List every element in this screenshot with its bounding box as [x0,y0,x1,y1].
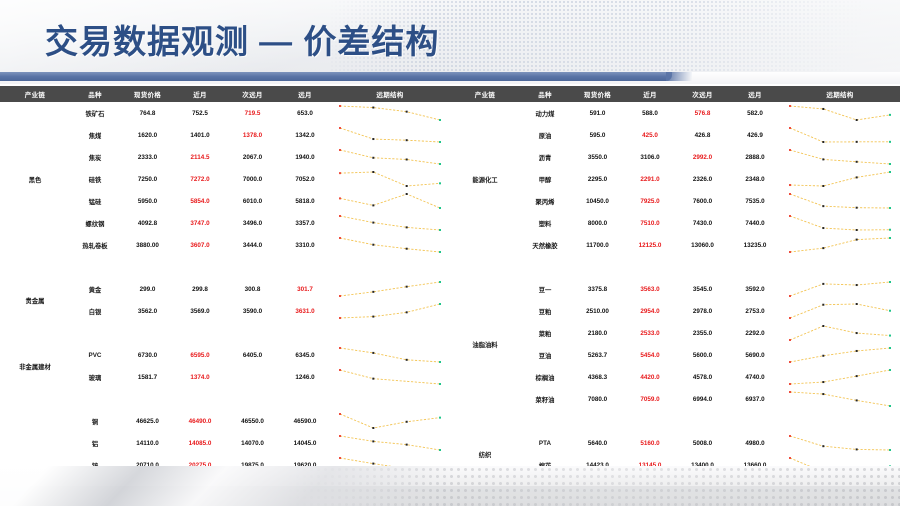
term-structure-sparkline [780,102,900,124]
near-price-cell: 752.5 [175,102,225,124]
spot-price-cell: 1581.7 [120,366,175,388]
symbol-cell[interactable]: 铜 [70,410,120,432]
symbol-cell[interactable]: 热轧卷板 [70,234,120,256]
term-structure-sparkline [330,190,450,212]
near-price-cell: 7059.0 [625,388,675,410]
far-price-cell: 5690.0 [730,344,780,366]
term-structure-sparkline [780,168,900,190]
symbol-cell[interactable]: 黄金 [70,278,120,300]
group-separator-cell [0,256,450,278]
far-price-cell: 1940.0 [280,146,330,168]
far-price-cell: 301.7 [280,278,330,300]
near-price-cell: 299.8 [175,278,225,300]
symbol-cell[interactable]: 动力煤 [520,102,570,124]
symbol-cell[interactable]: 聚丙烯 [520,190,570,212]
term-structure-sparkline [330,344,450,366]
footer-swoosh [0,466,514,506]
near-price-cell: 5160.0 [625,432,675,454]
term-structure-sparkline [780,146,900,168]
right-table-wrap: 产业链品种现货价格近月次远月远月远期结构 能源化工动力煤591.0588.057… [450,86,900,466]
column-header-1: 品种 [520,86,570,102]
term-structure-sparkline [780,190,900,212]
mid-price-cell: 3496.0 [225,212,280,234]
mid-price-cell: 2067.0 [225,146,280,168]
symbol-cell[interactable]: 玻璃 [70,366,120,388]
spot-price-cell: 46625.0 [120,410,175,432]
near-price-cell: 3607.0 [175,234,225,256]
far-price-cell: 6937.0 [730,388,780,410]
far-price-cell: 582.0 [730,102,780,124]
near-price-cell: 12125.0 [625,234,675,256]
far-price-cell: 1342.0 [280,124,330,146]
spot-price-cell: 4368.3 [570,366,625,388]
symbol-cell[interactable]: 甲醇 [520,168,570,190]
far-price-cell: 4980.0 [730,432,780,454]
spot-price-cell: 2180.0 [570,322,625,344]
far-price-cell: 7535.0 [730,190,780,212]
header-row: 产业链品种现货价格近月次远月远月远期结构 [0,86,450,102]
column-header-2: 现货价格 [120,86,175,102]
symbol-cell[interactable]: 焦煤 [70,124,120,146]
near-price-cell: 2291.0 [625,168,675,190]
table-row[interactable]: 非金属建材PVC6730.06595.06405.06345.0 [0,344,450,366]
spot-price-cell: 3880.00 [120,234,175,256]
term-structure-sparkline [330,168,450,190]
left-table-wrap: 产业链品种现货价格近月次远月远月远期结构 黑色铁矿石764.8752.5719.… [0,86,450,466]
mid-price-cell: 6994.0 [675,388,730,410]
term-structure-sparkline [330,124,450,146]
mid-price-cell: 13060.0 [675,234,730,256]
spot-price-cell: 5263.7 [570,344,625,366]
term-structure-sparkline [330,146,450,168]
mid-price-cell: 2978.0 [675,300,730,322]
spot-price-cell: 8000.0 [570,212,625,234]
term-structure-sparkline [780,388,900,410]
near-price-cell: 5854.0 [175,190,225,212]
group-separator [0,256,450,278]
category-cell: 黑色 [0,102,70,256]
column-header-0: 产业链 [0,86,70,102]
symbol-cell[interactable]: 菜粕 [520,322,570,344]
right-data-table: 产业链品种现货价格近月次远月远月远期结构 能源化工动力煤591.0588.057… [450,86,900,506]
term-structure-sparkline [330,432,450,454]
mid-price-cell: 1378.0 [225,124,280,146]
column-header-0: 产业链 [450,86,520,102]
spot-price-cell: 2295.0 [570,168,625,190]
term-structure-sparkline [780,124,900,146]
symbol-cell[interactable]: 铁矿石 [70,102,120,124]
far-price-cell: 46590.0 [280,410,330,432]
symbol-cell[interactable]: 锰硅 [70,190,120,212]
near-price-cell: 7925.0 [625,190,675,212]
column-header-4: 次远月 [675,86,730,102]
far-price-cell: 3357.0 [280,212,330,234]
group-separator-cell [0,388,450,410]
far-price-cell: 3592.0 [730,278,780,300]
symbol-cell[interactable]: 白银 [70,300,120,322]
table-row[interactable]: 油脂油料豆一3375.83563.03545.03592.0 [450,278,900,300]
spot-price-cell: 595.0 [570,124,625,146]
mid-price-cell: 719.5 [225,102,280,124]
category-cell: 油脂油料 [450,278,520,410]
term-structure-sparkline [780,278,900,300]
spot-price-cell: 3550.0 [570,146,625,168]
mid-price-cell: 6010.0 [225,190,280,212]
far-price-cell: 5818.0 [280,190,330,212]
left-table-head: 产业链品种现货价格近月次远月远月远期结构 [0,86,450,102]
term-structure-sparkline [780,212,900,234]
mid-price-cell: 576.8 [675,102,730,124]
symbol-cell[interactable]: 豆粕 [520,300,570,322]
spot-price-cell: 11700.0 [570,234,625,256]
far-price-cell: 653.0 [280,102,330,124]
term-structure-sparkline [330,234,450,256]
symbol-cell[interactable]: 豆一 [520,278,570,300]
tables-container: 产业链品种现货价格近月次远月远月远期结构 黑色铁矿石764.8752.5719.… [0,86,900,466]
column-header-6: 远期结构 [330,86,450,102]
far-price-cell: 2753.0 [730,300,780,322]
far-price-cell: 7052.0 [280,168,330,190]
near-price-cell: 425.0 [625,124,675,146]
mid-price-cell [225,366,280,388]
category-cell: 贵金属 [0,278,70,322]
far-price-cell: 13235.0 [730,234,780,256]
spot-price-cell: 2510.00 [570,300,625,322]
far-price-cell: 2292.0 [730,322,780,344]
spot-price-cell: 591.0 [570,102,625,124]
column-header-4: 次远月 [225,86,280,102]
symbol-cell[interactable]: 铝 [70,432,120,454]
mid-price-cell: 7600.0 [675,190,730,212]
near-price-cell: 3563.0 [625,278,675,300]
group-separator [0,388,450,410]
far-price-cell: 7440.0 [730,212,780,234]
symbol-cell[interactable]: 焦炭 [70,146,120,168]
column-header-5: 远月 [730,86,780,102]
near-price-cell: 2114.5 [175,146,225,168]
near-price-cell: 4420.0 [625,366,675,388]
category-cell: 能源化工 [450,102,520,256]
near-price-cell: 3106.0 [625,146,675,168]
term-structure-sparkline [330,212,450,234]
far-price-cell: 1246.0 [280,366,330,388]
mid-price-cell: 3590.0 [225,300,280,322]
group-separator-cell [450,256,900,278]
far-price-cell: 426.9 [730,124,780,146]
group-separator [450,256,900,278]
mid-price-cell: 426.8 [675,124,730,146]
spot-price-cell: 7250.0 [120,168,175,190]
symbol-cell[interactable]: 天然橡胶 [520,234,570,256]
near-price-cell: 7272.0 [175,168,225,190]
spot-price-cell: 4092.8 [120,212,175,234]
accent-bar-tail [666,72,692,81]
far-price-cell: 4740.0 [730,366,780,388]
column-header-1: 品种 [70,86,120,102]
symbol-cell[interactable]: 菜籽油 [520,388,570,410]
symbol-cell[interactable]: 豆油 [520,344,570,366]
spot-price-cell: 10450.0 [570,190,625,212]
far-price-cell: 3631.0 [280,300,330,322]
near-price-cell: 3747.0 [175,212,225,234]
mid-price-cell: 2992.0 [675,146,730,168]
symbol-cell[interactable]: 沥青 [520,146,570,168]
near-price-cell: 588.0 [625,102,675,124]
term-structure-sparkline [780,366,900,388]
spot-price-cell: 299.0 [120,278,175,300]
column-header-6: 远期结构 [780,86,900,102]
spot-price-cell: 5640.0 [570,432,625,454]
group-separator-cell [450,410,900,432]
term-structure-sparkline [780,234,900,256]
far-price-cell: 2888.0 [730,146,780,168]
far-price-cell: 3310.0 [280,234,330,256]
mid-price-cell: 5600.0 [675,344,730,366]
column-header-3: 近月 [175,86,225,102]
far-price-cell: 6345.0 [280,344,330,366]
term-structure-sparkline [330,366,450,388]
term-structure-sparkline [330,300,450,322]
term-structure-sparkline [330,278,450,300]
spot-price-cell: 3562.0 [120,300,175,322]
mid-price-cell: 2326.0 [675,168,730,190]
mid-price-cell: 300.8 [225,278,280,300]
near-price-cell: 6595.0 [175,344,225,366]
mid-price-cell: 14070.0 [225,432,280,454]
table-row[interactable]: 贵金属黄金299.0299.8300.8301.7 [0,278,450,300]
near-price-cell: 2533.0 [625,322,675,344]
left-data-table: 产业链品种现货价格近月次远月远月远期结构 黑色铁矿石764.8752.5719.… [0,86,450,506]
mid-price-cell: 2355.0 [675,322,730,344]
spot-price-cell: 1620.0 [120,124,175,146]
column-header-2: 现货价格 [570,86,625,102]
left-table-body: 黑色铁矿石764.8752.5719.5653.0焦煤1620.01401.01… [0,102,450,506]
term-structure-sparkline [780,432,900,454]
mid-price-cell: 4578.0 [675,366,730,388]
near-price-cell: 2954.0 [625,300,675,322]
spot-price-cell: 2333.0 [120,146,175,168]
mid-price-cell: 3545.0 [675,278,730,300]
mid-price-cell: 3444.0 [225,234,280,256]
symbol-cell[interactable]: PTA [520,432,570,454]
near-price-cell: 46490.0 [175,410,225,432]
term-structure-sparkline [780,344,900,366]
symbol-cell[interactable]: 硅铁 [70,168,120,190]
spot-price-cell: 7080.0 [570,388,625,410]
title-banner: 交易数据观测 — 价差结构 [0,0,900,72]
right-table-head: 产业链品种现货价格近月次远月远月远期结构 [450,86,900,102]
near-price-cell: 7510.0 [625,212,675,234]
spot-price-cell: 764.8 [120,102,175,124]
mid-price-cell: 5008.0 [675,432,730,454]
group-separator [0,322,450,344]
mid-price-cell: 46550.0 [225,410,280,432]
footer-decoration [0,466,900,506]
far-price-cell: 14045.0 [280,432,330,454]
near-price-cell: 14085.0 [175,432,225,454]
slide-root: 交易数据观测 — 价差结构 产业链品种现货价格近月次远月远月远期结构 黑色铁矿石… [0,0,900,506]
near-price-cell: 3569.0 [175,300,225,322]
accent-bar-fill [0,72,672,81]
accent-bar [0,72,900,84]
term-structure-sparkline [780,322,900,344]
near-price-cell: 1401.0 [175,124,225,146]
symbol-cell[interactable]: 原油 [520,124,570,146]
column-header-3: 近月 [625,86,675,102]
page-title: 交易数据观测 — 价差结构 [45,15,439,63]
term-structure-sparkline [330,102,450,124]
spot-price-cell: 5950.0 [120,190,175,212]
near-price-cell: 5454.0 [625,344,675,366]
table-row[interactable]: 黑色铁矿石764.8752.5719.5653.0 [0,102,450,124]
mid-price-cell: 6405.0 [225,344,280,366]
spot-price-cell: 14110.0 [120,432,175,454]
group-separator [450,410,900,432]
table-row[interactable]: 有色铜46625.046490.046550.046590.0 [0,410,450,432]
far-price-cell: 2348.0 [730,168,780,190]
near-price-cell: 1374.0 [175,366,225,388]
mid-price-cell: 7430.0 [675,212,730,234]
table-row[interactable]: 能源化工动力煤591.0588.0576.8582.0 [450,102,900,124]
symbol-cell[interactable]: 棕榈油 [520,366,570,388]
right-table-body: 能源化工动力煤591.0588.0576.8582.0原油595.0425.04… [450,102,900,506]
symbol-cell[interactable]: 塑料 [520,212,570,234]
header-row: 产业链品种现货价格近月次远月远月远期结构 [450,86,900,102]
spot-price-cell: 6730.0 [120,344,175,366]
term-structure-sparkline [780,300,900,322]
symbol-cell[interactable]: 螺纹钢 [70,212,120,234]
table-row[interactable]: 纺织PTA5640.05160.05008.04980.0 [450,432,900,454]
symbol-cell[interactable]: PVC [70,344,120,366]
category-cell: 非金属建材 [0,344,70,388]
group-separator-cell [0,322,450,344]
column-header-5: 远月 [280,86,330,102]
term-structure-sparkline [330,410,450,432]
spot-price-cell: 3375.8 [570,278,625,300]
mid-price-cell: 7000.0 [225,168,280,190]
